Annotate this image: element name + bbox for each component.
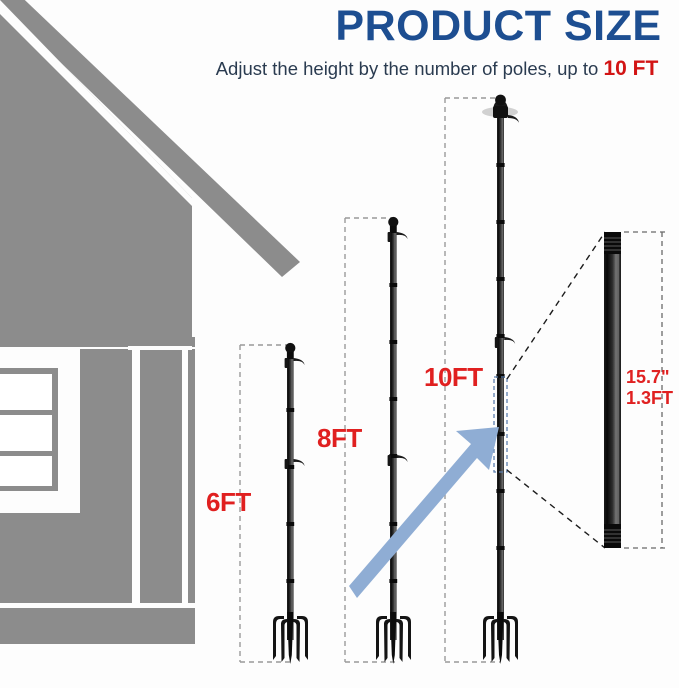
label-8ft: 8FT <box>317 423 362 454</box>
segment-measure-inches: 15.7" <box>626 367 673 388</box>
product-size-infographic: PRODUCT SIZE Adjust the height by the nu… <box>0 0 679 688</box>
pole-10ft <box>482 95 519 664</box>
label-6ft: 6FT <box>206 487 251 518</box>
callout-leader-lines <box>507 232 605 548</box>
pole-8ft <box>376 217 411 664</box>
label-10ft: 10FT <box>424 362 483 393</box>
pole-diagram <box>0 0 679 688</box>
segment-measure-label: 15.7" 1.3FT <box>626 367 673 409</box>
segment-measure-feet: 1.3FT <box>626 388 673 409</box>
pole-6ft <box>273 343 308 664</box>
segment-detail-pole <box>604 232 621 548</box>
growth-arrow <box>349 427 499 598</box>
